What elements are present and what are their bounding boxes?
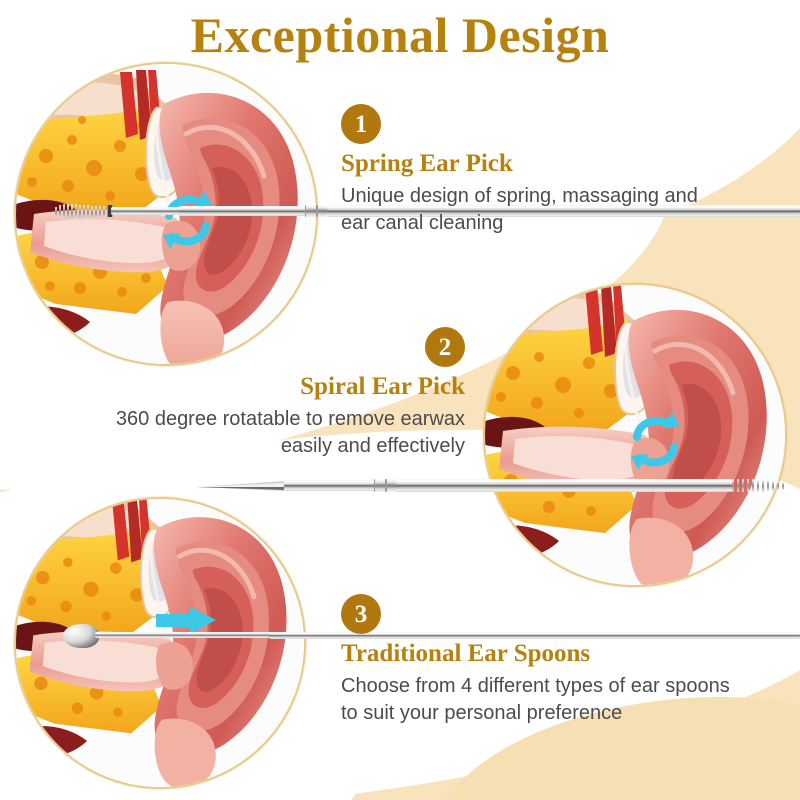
feature-description-2-line1: 360 degree rotatable to remove earwax [35, 406, 465, 433]
page-title: Exceptional Design [0, 6, 800, 64]
rod-band-1 [305, 205, 317, 217]
feature-heading-1: Spring Ear Pick [341, 150, 781, 178]
feature-number-badge-3: 3 [341, 594, 381, 634]
infographic-canvas: Exceptional Design [0, 0, 800, 800]
spiral-ear-pick-tool [196, 475, 800, 501]
rod-band-1 [374, 479, 386, 492]
feature-block-1: 1 Spring Ear Pick Unique design of sprin… [341, 104, 781, 237]
rod-taper-point [196, 478, 286, 494]
feature-number-badge-2: 2 [425, 327, 465, 367]
feature-description-1-line2: ear canal cleaning [341, 210, 781, 237]
rod-segment-mid [284, 480, 376, 491]
feature-heading-2: Spiral Ear Pick [35, 373, 465, 401]
rotation-arrow-icon-2 [628, 406, 688, 476]
rod-handle [396, 479, 732, 492]
feature-description-2-line2: easily and effectively [35, 433, 465, 460]
feature-description-3-line2: to suit your personal preference [341, 700, 791, 727]
feature-heading-3: Traditional Ear Spoons [341, 640, 791, 668]
spiral-coil-tip-icon [732, 479, 788, 493]
spoon-head-icon [63, 624, 99, 648]
rod-segment-thin [111, 207, 181, 215]
feature-description-3: Choose from 4 different types of ear spo… [341, 673, 791, 727]
feature-description-3-line1: Choose from 4 different types of ear spo… [341, 673, 791, 700]
feature-description-2: 360 degree rotatable to remove earwax ea… [35, 406, 465, 460]
feature-description-1: Unique design of spring, massaging and e… [341, 183, 781, 237]
feature-block-2: 2 Spiral Ear Pick 360 degree rotatable t… [35, 327, 465, 460]
spring-coil-tip-icon [55, 204, 107, 220]
rod-segment-taper [179, 206, 309, 216]
feature-block-3: 3 Traditional Ear Spoons Choose from 4 d… [341, 594, 791, 727]
feature-description-1-line1: Unique design of spring, massaging and [341, 183, 781, 210]
spoon-neck [95, 632, 275, 638]
feature-number-badge-1: 1 [341, 104, 381, 144]
